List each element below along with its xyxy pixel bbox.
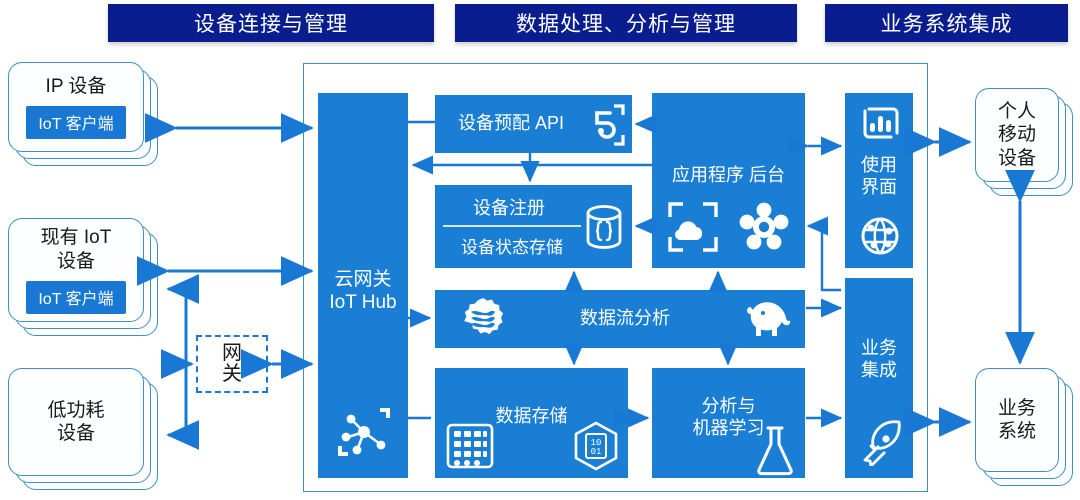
flask-icon — [751, 424, 799, 476]
gateway-box[interactable]: 网 关 — [196, 335, 268, 393]
iot-client-badge: IoT 客户端 — [26, 281, 125, 314]
gateway-label: 网 关 — [220, 343, 244, 385]
stream-gear-icon — [459, 296, 507, 342]
iot-client-badge: IoT 客户端 — [26, 106, 125, 139]
card-face: IP 设备 IoT 客户端 — [8, 62, 144, 152]
device-label: 低功耗 设备 — [47, 399, 104, 445]
card-face: 业务 系统 — [975, 368, 1059, 472]
ui-panel-label: 使用 界面 — [845, 155, 913, 198]
card-face: 个人 移动 设备 — [975, 88, 1059, 182]
device-card-existing-iot-device[interactable]: 现有 IoT 设备 IoT 客户端 — [8, 218, 158, 336]
device-card-ip-device[interactable]: IP 设备 IoT 客户端 — [8, 62, 158, 166]
app-backend-label: 应用程序 后台 — [652, 165, 805, 187]
business-integration-label: 业务 集成 — [845, 338, 913, 381]
system-label: 业务 系统 — [998, 397, 1036, 443]
network-nodes-icon — [336, 404, 392, 460]
device-registry-block[interactable]: 设备注册 设备状态存储 — [435, 185, 632, 268]
device-registry-label: 设备注册 — [437, 194, 581, 220]
iot-hub-block[interactable]: 云网关 IoT Hub — [318, 93, 408, 478]
device-card-low-power-device[interactable]: 低功耗 设备 — [8, 368, 158, 490]
header-banner-business-integration: 业务系统集成 — [825, 4, 1068, 42]
registry-divider — [443, 225, 581, 227]
svg-text:01: 01 — [591, 447, 602, 457]
card-face: 现有 IoT 设备 IoT 客户端 — [8, 218, 144, 322]
binary-hex-icon: 10 01 — [570, 420, 622, 472]
hadoop-elephant-icon — [741, 296, 797, 342]
header-banner-device-connection: 设备连接与管理 — [108, 4, 434, 42]
api-bracket-icon — [580, 101, 628, 149]
bar-chart-icon — [859, 105, 901, 149]
app-backend-block[interactable]: 应用程序 后台 — [652, 93, 805, 268]
rocket-icon — [859, 420, 903, 466]
system-card-business-system[interactable]: 业务 系统 — [975, 368, 1073, 486]
wire-container-right-edge — [928, 142, 935, 422]
stream-analytics-block[interactable]: 数据流分析 — [435, 290, 805, 348]
gear-flower-icon — [739, 202, 789, 252]
database-braces-icon — [580, 202, 628, 252]
iot-hub-label: 云网关 IoT Hub — [318, 269, 408, 315]
business-integration-block[interactable]: 业务 集成 — [845, 278, 913, 478]
device-label: IP 设备 — [46, 75, 107, 98]
stream-analytics-label: 数据流分析 — [535, 308, 715, 330]
ui-panel-block[interactable]: 使用 界面 — [845, 93, 913, 268]
provisioning-api-label: 设备预配 API — [441, 113, 581, 135]
device-label: 现有 IoT 设备 — [41, 226, 112, 272]
system-label: 个人 移动 设备 — [998, 100, 1036, 170]
data-store-block[interactable]: 数据存储 10 01 — [435, 368, 628, 478]
device-state-store-label: 设备状态存储 — [437, 233, 587, 258]
wire-gateway-bus — [168, 289, 192, 435]
globe-network-icon — [859, 214, 901, 258]
table-grid-icon — [445, 422, 495, 470]
cloud-frame-icon — [668, 202, 718, 252]
system-card-personal-mobile-device[interactable]: 个人 移动 设备 — [975, 88, 1073, 196]
analytics-ml-block[interactable]: 分析与 机器学习 — [652, 368, 805, 478]
device-provisioning-api-block[interactable]: 设备预配 API — [435, 95, 632, 153]
header-banner-data-processing: 数据处理、分析与管理 — [455, 4, 797, 42]
card-face: 低功耗 设备 — [8, 368, 144, 476]
